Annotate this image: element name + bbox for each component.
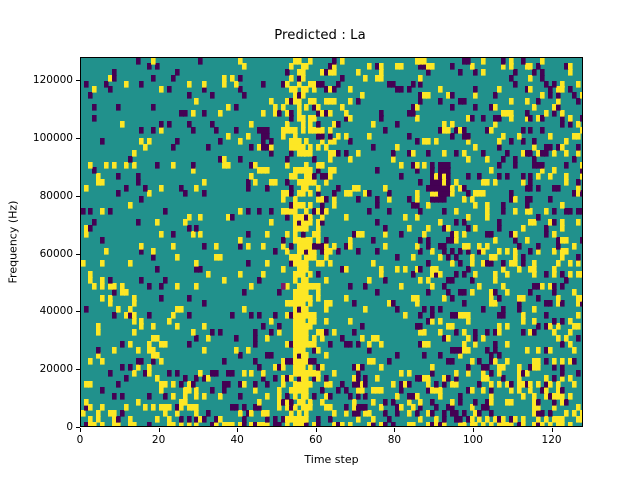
y-tick-label: 60000 xyxy=(40,248,73,260)
x-tick-mark xyxy=(80,428,81,432)
x-tick-label: 100 xyxy=(463,434,483,446)
y-tick-label: 80000 xyxy=(40,190,73,202)
y-tick-label: 120000 xyxy=(33,74,73,86)
x-tick-mark xyxy=(552,428,553,432)
matplotlib-figure: Predicted : La 020406080100120 020000400… xyxy=(0,0,640,480)
spectrogram-heatmap xyxy=(81,58,583,427)
y-tick-label: 40000 xyxy=(40,305,73,317)
x-tick-mark xyxy=(394,428,395,432)
y-axis-label: Frequency (Hz) xyxy=(7,201,20,284)
y-tick-label: 0 xyxy=(66,421,73,433)
x-axis-label: Time step xyxy=(80,453,583,466)
x-tick-label: 60 xyxy=(309,434,322,446)
heatmap-axes xyxy=(80,57,583,427)
x-tick-label: 0 xyxy=(77,434,84,446)
y-tick-label: 20000 xyxy=(40,363,73,375)
x-tick-label: 20 xyxy=(152,434,165,446)
x-tick-label: 120 xyxy=(542,434,562,446)
y-tick-mark xyxy=(76,80,80,81)
x-tick-label: 40 xyxy=(231,434,244,446)
y-tick-mark xyxy=(76,427,80,428)
y-tick-mark xyxy=(76,196,80,197)
x-tick-mark xyxy=(473,428,474,432)
x-tick-mark xyxy=(316,428,317,432)
x-tick-label: 80 xyxy=(388,434,401,446)
y-tick-mark xyxy=(76,254,80,255)
y-tick-mark xyxy=(76,311,80,312)
y-tick-mark xyxy=(76,138,80,139)
x-tick-mark xyxy=(237,428,238,432)
page-title: Predicted : La xyxy=(0,28,640,43)
x-tick-mark xyxy=(159,428,160,432)
y-tick-mark xyxy=(76,369,80,370)
y-tick-label: 100000 xyxy=(33,132,73,144)
